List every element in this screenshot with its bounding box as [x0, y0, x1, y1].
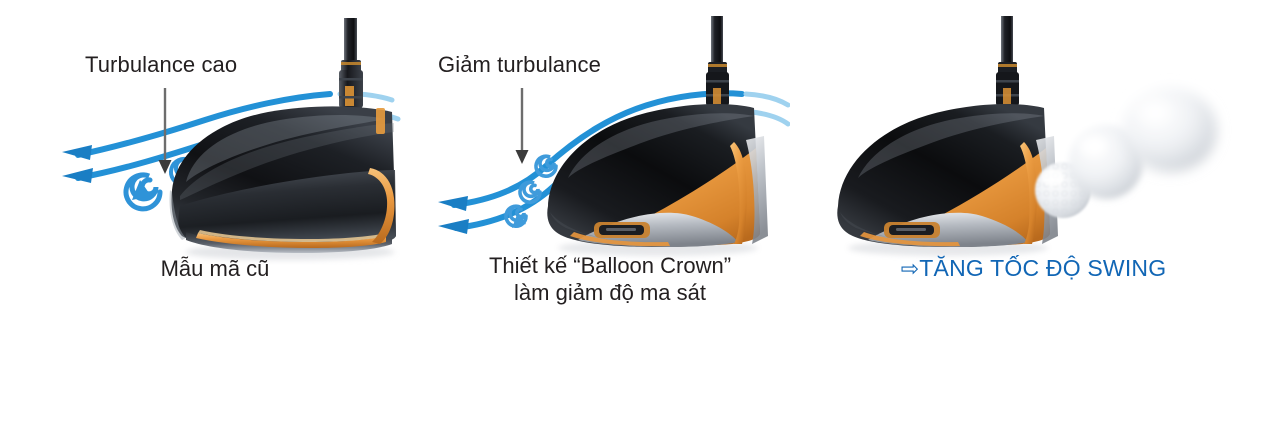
sole-weight-badge	[594, 222, 650, 238]
caption-line-1: Thiết kế “Balloon Crown”	[430, 252, 790, 279]
infographic-canvas: Turbulance cao	[0, 0, 1277, 426]
right-arrow-icon: ⇨	[901, 256, 920, 281]
golf-club-shaft-icon	[706, 16, 729, 106]
golf-ball-icon	[1123, 88, 1217, 172]
leader-line-arrow-icon	[516, 88, 529, 164]
golf-club-shaft-icon	[996, 16, 1019, 106]
caption-swing-speed-text: TĂNG TỐC ĐỘ SWING	[919, 255, 1166, 281]
caption-swing-speed: ⇨TĂNG TỐC ĐỘ SWING	[790, 255, 1277, 282]
golf-driver-head-rounded-icon	[547, 104, 768, 256]
panel-old-model: Turbulance cao	[0, 0, 430, 426]
caption-line-2: làm giảm độ ma sát	[430, 279, 790, 306]
caption-balloon-crown: Thiết kế “Balloon Crown” làm giảm độ ma …	[430, 252, 790, 306]
golf-driver-head-rounded-icon	[837, 104, 1058, 256]
golf-club-shaft-icon	[339, 18, 363, 108]
sole-weight-badge	[884, 222, 940, 238]
golf-driver-head-angular-icon	[170, 106, 397, 260]
balloon-crown-illustration	[430, 0, 790, 426]
old-model-illustration	[0, 0, 430, 426]
golf-ball-trail	[1035, 88, 1217, 218]
swing-speed-illustration	[790, 0, 1277, 426]
panel-balloon-crown: Giảm turbulance	[430, 0, 790, 426]
caption-old-model: Mẫu mã cũ	[0, 255, 430, 282]
panel-swing-speed: ⇨TĂNG TỐC ĐỘ SWING	[790, 0, 1277, 426]
